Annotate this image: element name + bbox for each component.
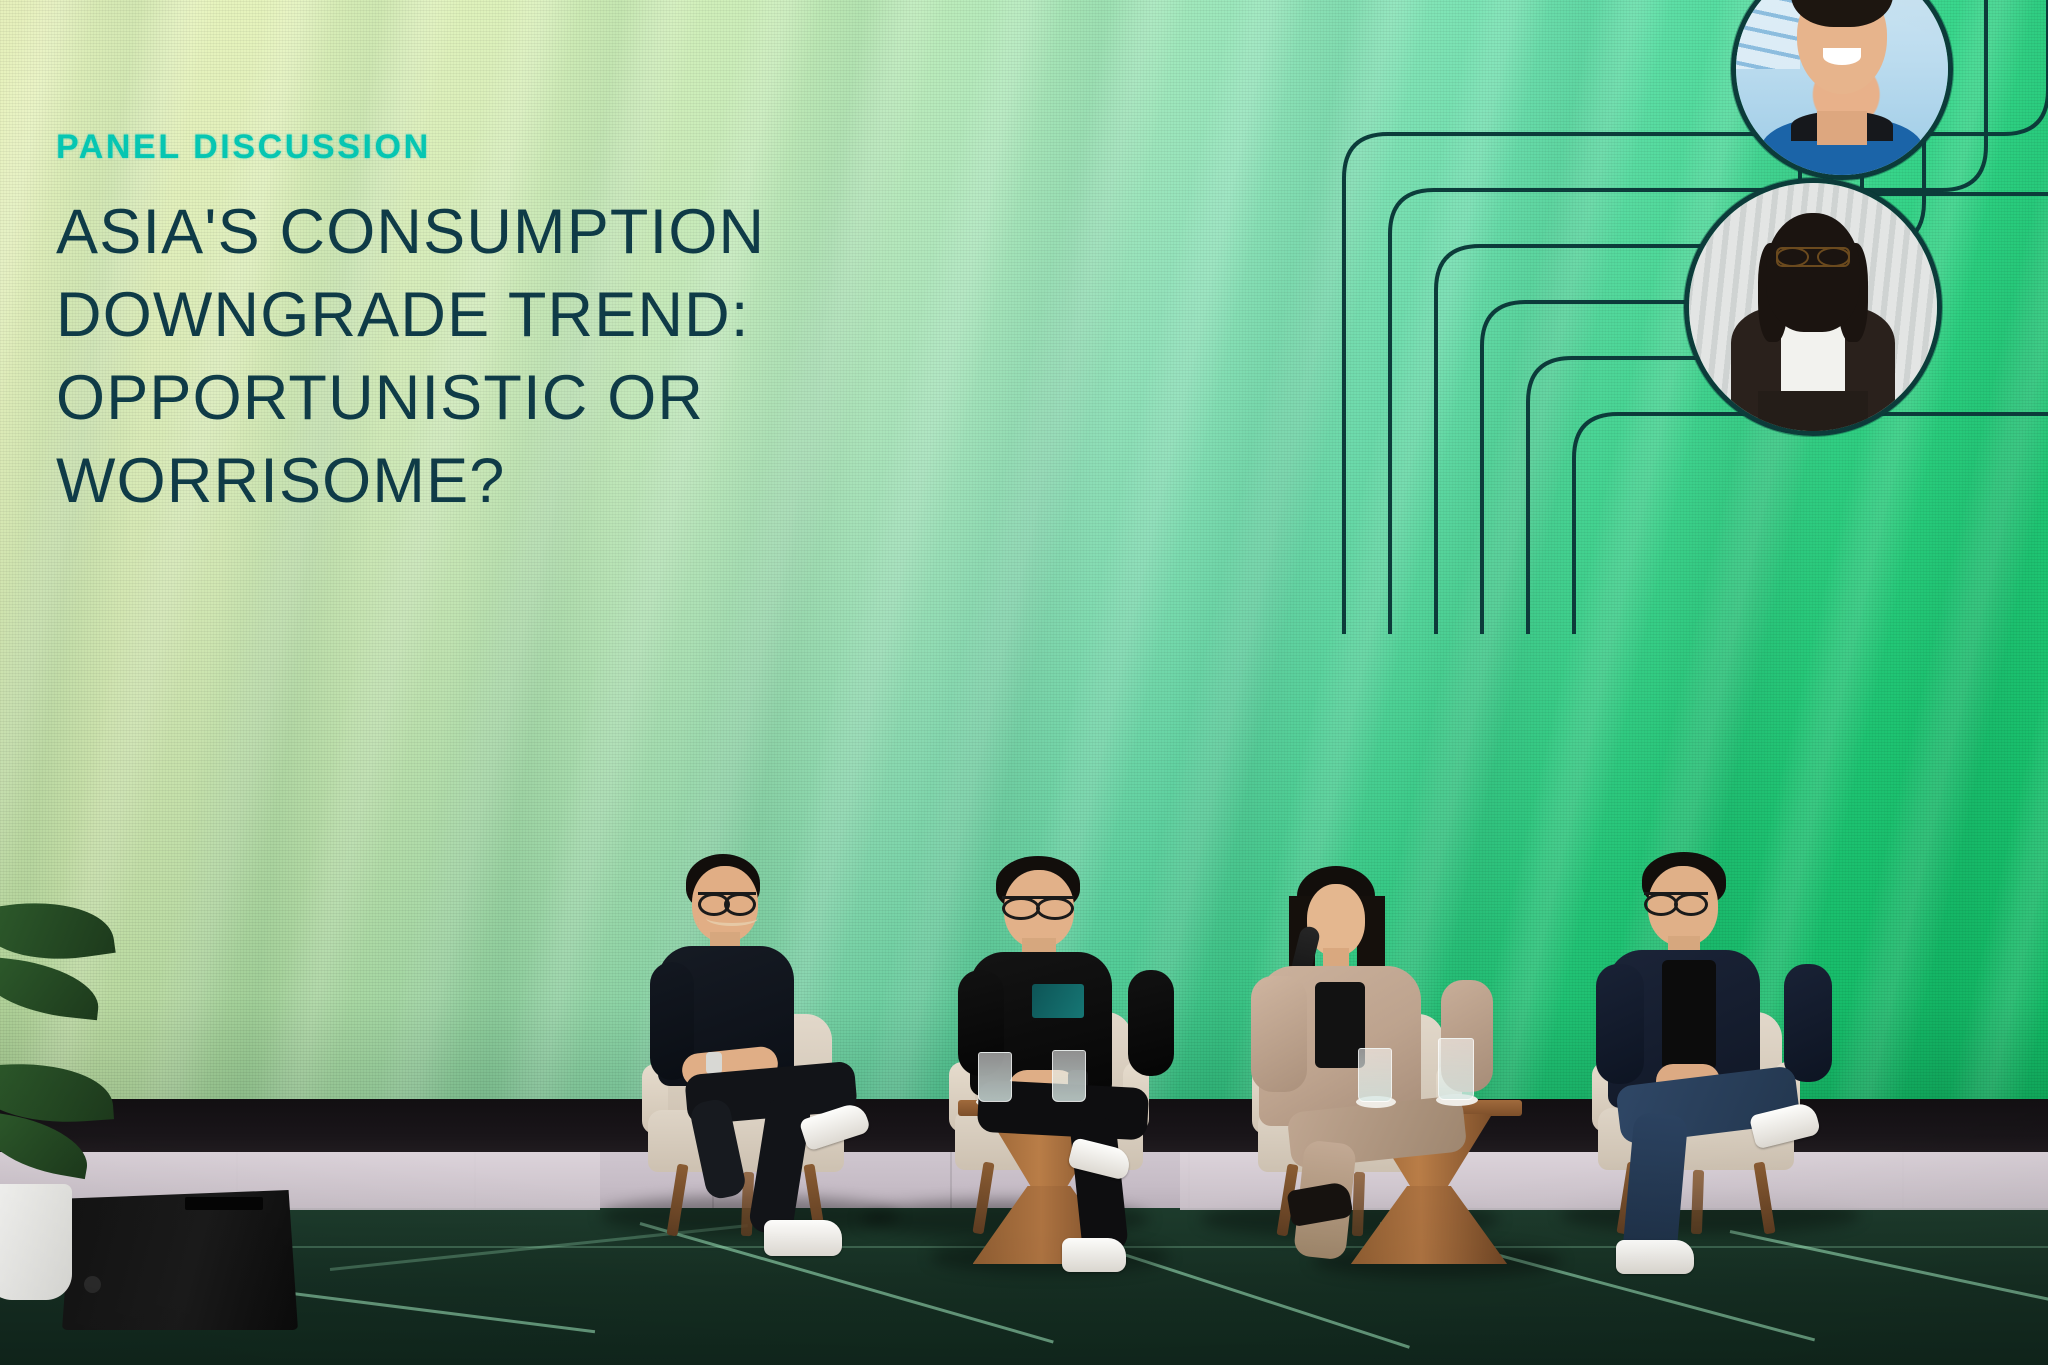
- slide-text-block: PANEL DISCUSSION ASIA'S CONSUMPTION DOWN…: [56, 128, 765, 524]
- slide-eyebrow: PANEL DISCUSSION: [56, 128, 765, 167]
- title-line-3: OPPORTUNISTIC OR: [56, 357, 765, 440]
- avatar-photo-bottom: [1689, 183, 1937, 431]
- speaker-handle-slot: [185, 1197, 263, 1210]
- glasses-icon: [698, 892, 756, 895]
- glasses-icon: [1002, 896, 1074, 899]
- avatar-photo-top: [1736, 0, 1948, 175]
- avatar-background-sea: [1731, 0, 1800, 69]
- wristwatch-icon: [706, 1052, 722, 1074]
- panelist-2-arm-right: [1128, 970, 1174, 1076]
- page-title: ASIA'S CONSUMPTION DOWNGRADE TREND: OPPO…: [56, 191, 765, 524]
- shirt-badge: [1032, 984, 1084, 1018]
- water-glass-2: [1052, 1050, 1086, 1102]
- avatar-speaker-top: [1731, 0, 1953, 180]
- glasses-icon: [1644, 892, 1708, 895]
- water-glass-4: [1438, 1038, 1474, 1100]
- speaker-knob: [84, 1276, 101, 1293]
- avatar-speaker-bottom: [1684, 178, 1942, 436]
- title-line-4: WORRISOME?: [56, 440, 765, 523]
- panelist-2-shoe-lower: [1062, 1238, 1126, 1272]
- avatar-hair-bottom: [1766, 213, 1860, 332]
- avatar-smile-top: [1823, 48, 1861, 65]
- title-line-1: ASIA'S CONSUMPTION: [56, 191, 765, 274]
- glasses-icon: [1776, 247, 1850, 267]
- avatar-skirt-bottom: [1758, 391, 1867, 436]
- panelist-3-arm-left: [1251, 976, 1307, 1092]
- panelist-4-arm-left: [1596, 964, 1644, 1084]
- panelist-4: [1584, 852, 1834, 1262]
- panelist-1: [636, 854, 876, 1254]
- panelist-4-inner-tee: [1662, 960, 1716, 1070]
- title-line-2: DOWNGRADE TREND:: [56, 274, 765, 357]
- plant-pot: [0, 1184, 72, 1300]
- headset-mic-icon: [706, 910, 758, 926]
- water-glass-3: [1358, 1048, 1392, 1102]
- stage-monitor-speaker: [62, 1190, 298, 1330]
- panelist-4-shoe-lower: [1616, 1240, 1694, 1274]
- water-glass-1: [978, 1052, 1012, 1102]
- conference-stage-photo: PANEL DISCUSSION ASIA'S CONSUMPTION DOWN…: [0, 0, 2048, 1365]
- avatar-neck-top: [1817, 111, 1868, 145]
- panelist-4-arm-right: [1784, 964, 1832, 1082]
- panelist-1-shoe-lower: [764, 1220, 842, 1256]
